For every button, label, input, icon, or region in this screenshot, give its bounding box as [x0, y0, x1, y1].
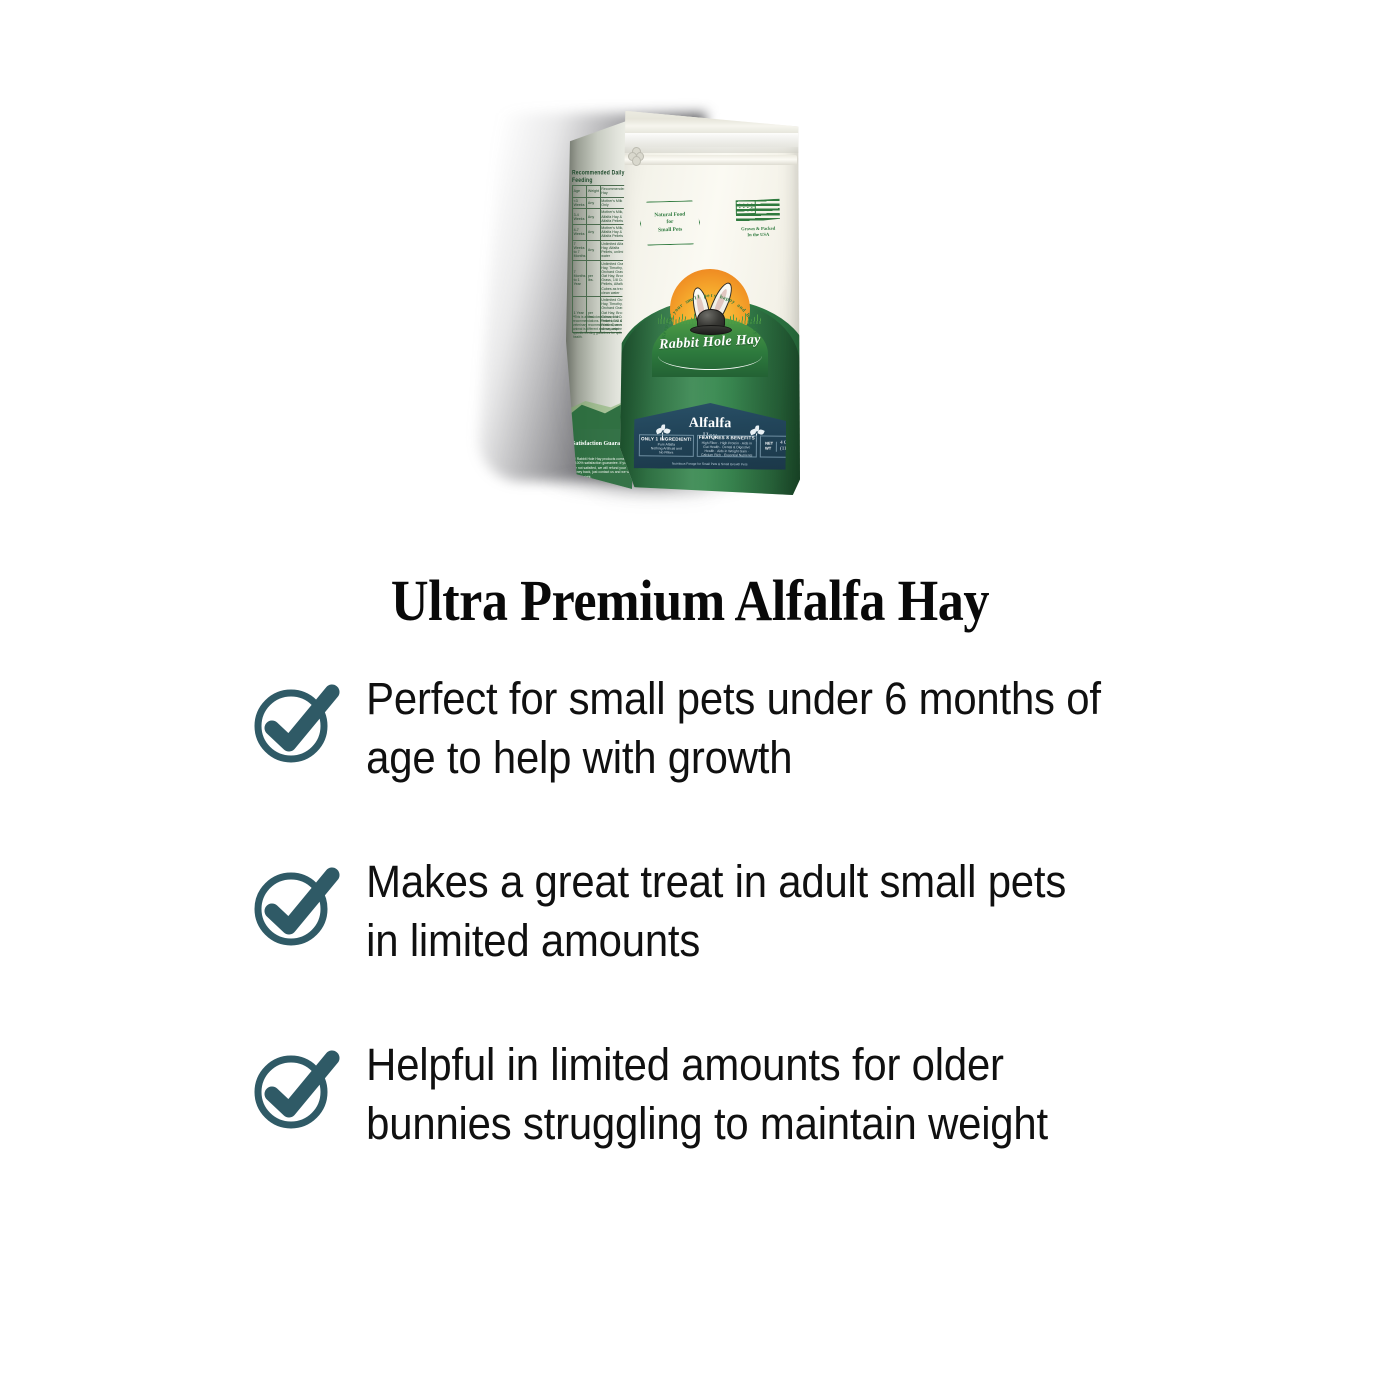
table-cell: Any — [587, 225, 600, 241]
table-header-row: Age Weight Recommended Hay — [573, 186, 630, 198]
table-row: 4-7 Weeks Any Mother's Milk, Alfalfa Hay… — [573, 225, 630, 241]
usa-origin-caption: Grown & PackedIn the USA — [732, 226, 784, 239]
natural-food-badge-label: Natural FoodforSmall Pets — [654, 212, 686, 235]
flag-canton — [736, 200, 756, 214]
product-marketing-page: Recommended Daily Feeding Age Weight Rec… — [0, 0, 1380, 1380]
usa-flag-icon — [736, 199, 780, 224]
brand-logo: Keeping your small pets happy and health… — [646, 261, 774, 377]
benefit-item: Makes a great treat in adult small pets … — [246, 843, 1166, 970]
table-cell: <3 Weeks — [573, 197, 587, 209]
logo-tagline-char: s — [714, 293, 717, 299]
check-circle-icon — [246, 1040, 342, 1136]
benefit-text: Perfect for small pets under 6 months of… — [342, 660, 1108, 787]
bag-zipper — [624, 155, 797, 165]
feeding-footnote: *This is a breakdown of common recommend… — [573, 315, 629, 339]
plaque-footer: Nutritious Forage for Small Pets & Small… — [634, 461, 786, 467]
table-cell: 7 Weeks to 7 Months — [573, 240, 587, 260]
table-cell: per lbs. — [587, 260, 600, 296]
benefits-body: High Fiber · High Protein · Aids in Gut … — [699, 441, 755, 458]
product-hero-image: Recommended Daily Feeding Age Weight Rec… — [0, 0, 1380, 512]
table-cell: 4-7 Weeks — [573, 225, 587, 241]
product-bag: Recommended Daily Feeding Age Weight Rec… — [470, 75, 890, 515]
ingredient-heading: ONLY 1 INGREDIENT! — [641, 436, 692, 442]
bag-front-panel: Natural FoodforSmall Pets Grown & Packed… — [620, 103, 800, 495]
feeding-table: Recommended Daily Feeding Age Weight Rec… — [572, 171, 630, 333]
benefit-item: Perfect for small pets under 6 months of… — [246, 660, 1166, 787]
table-row: 7 Weeks to 7 Months Any Unlimited Alfalf… — [573, 240, 630, 260]
logo-tagline-arc: Keeping your small pets happy and health… — [646, 261, 774, 331]
benefits-heading: FEATURES 8 BENEFITS — [699, 435, 755, 441]
ingredient-cell: ONLY 1 INGREDIENT! Pure AlfalfaNothing A… — [639, 434, 694, 457]
feeding-table-title: Recommended Daily Feeding — [572, 170, 630, 185]
hang-hole-icon — [628, 147, 642, 164]
table-row: <3 Weeks Any Mother's Milk Only — [573, 197, 630, 209]
bag-seal-line — [620, 133, 800, 153]
logo-tagline-char: l — [697, 294, 700, 300]
feeding-table-grid: Age Weight Recommended Hay <3 Weeks Any … — [572, 185, 630, 333]
logo-tagline-char: e — [707, 293, 710, 299]
ingredient-body: Pure AlfalfaNothing Artificial andNo Fil… — [651, 442, 682, 455]
benefits-list: Perfect for small pets under 6 months of… — [246, 660, 1166, 1153]
check-circle-icon — [246, 857, 342, 953]
table-row: 3-4 Weeks Any Mother's Milk, Alfalfa Hay… — [573, 209, 630, 225]
usa-origin-mark: Grown & PackedIn the USA — [732, 199, 785, 239]
benefit-text: Makes a great treat in adult small pets … — [342, 843, 1108, 970]
benefit-item: Helpful in limited amounts for older bun… — [246, 1026, 1166, 1153]
table-cell: Any — [587, 197, 600, 209]
benefit-text: Helpful in limited amounts for older bun… — [342, 1026, 1108, 1153]
table-header-cell: Age — [573, 186, 587, 198]
table-cell: Any — [587, 240, 600, 260]
plaque-spec-cells: ONLY 1 INGREDIENT! Pure AlfalfaNothing A… — [639, 434, 781, 457]
table-cell: 3-4 Weeks — [573, 209, 587, 225]
net-weight-label: NETWT — [765, 442, 777, 451]
check-circle-icon — [246, 674, 342, 770]
table-cell: Any — [587, 209, 600, 225]
table-row: 7 Months to 1 Year per lbs. Unlimited Gr… — [573, 260, 630, 296]
benefits-cell: FEATURES 8 BENEFITS High Fiber · High Pr… — [697, 435, 757, 458]
logo-tagline-char: t — [711, 293, 713, 299]
natural-food-badge: Natural FoodforSmall Pets — [639, 200, 700, 246]
page-title: Ultra Premium Alfalfa Hay — [69, 567, 1311, 634]
table-header-cell: Weight — [587, 186, 600, 198]
table-cell: 7 Months to 1 Year — [573, 260, 587, 296]
